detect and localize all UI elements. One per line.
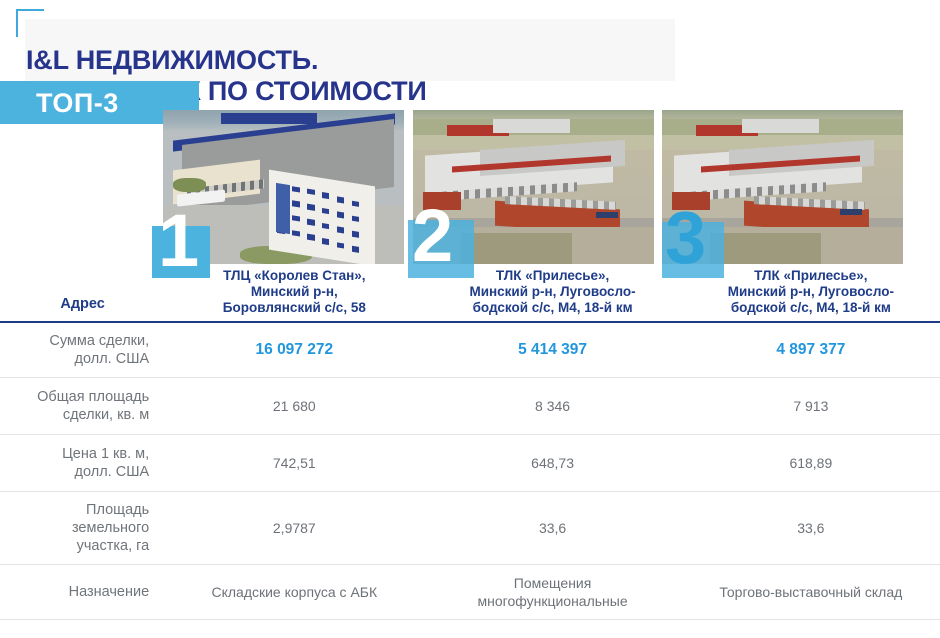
cell-price-per-sqm-2: 648,73 [423,435,681,492]
row-label-purpose: Назначение [0,565,165,620]
cell-deal-amount-2: 5 414 397 [423,322,681,378]
photo-2-gravel-yard [461,233,572,264]
cell-total-area-3: 7 913 [682,378,940,435]
cell-total-area-1: 21 680 [165,378,423,435]
cell-land-area-3: 33,6 [682,492,940,565]
cell-seller-1: ООО "БелПартАльянс" [165,620,423,638]
cell-purpose-3: Торгово-выставочный склад [682,565,940,620]
table-row: Продавец ООО "БелПартАльянс" ООО "Прилес… [0,620,940,638]
table-header-row: Адрес ТЛЦ «Королев Стан», Минский р-н, Б… [0,268,940,322]
top-deals-table: Адрес ТЛЦ «Королев Стан», Минский р-н, Б… [0,268,940,638]
table-row: Цена 1 кв. м, долл. США 742,51 648,73 61… [0,435,940,492]
table-row: Общая площадь сделки, кв. м 21 680 8 346… [0,378,940,435]
table-header-address: Адрес [0,268,165,322]
photo-3-gravel-yard [710,233,821,264]
table-header-col-2: ТЛК «Прилесье», Минский р-н, Луговосло- … [423,268,681,322]
cell-total-area-2: 8 346 [423,378,681,435]
slide-canvas: I&L НЕДВИЖИМОСТЬ. ТОП СДЕЛОК ПО СТОИМОСТ… [0,0,940,638]
top3-badge-label: ТОП-3 [36,88,119,119]
row-label-total-area: Общая площадь сделки, кв. м [0,378,165,435]
cell-land-area-2: 33,6 [423,492,681,565]
cell-price-per-sqm-3: 618,89 [682,435,940,492]
table-header-col-3: ТЛК «Прилесье», Минский р-н, Луговосло- … [682,268,940,322]
row-label-land-area: Площадь земельного участка, га [0,492,165,565]
rank-badge-1-numeral: 1 [158,213,199,269]
rank-badge-2-numeral: 2 [412,208,453,264]
photo-1-glass-facade [276,183,290,235]
table-row: Сумма сделки, долл. США 16 097 272 5 414… [0,322,940,378]
cell-price-per-sqm-1: 742,51 [165,435,423,492]
table-row: Назначение Складские корпуса с АБК Помещ… [0,565,940,620]
cell-deal-amount-3: 4 897 377 [682,322,940,378]
photo-3-truck [840,209,862,215]
row-label-seller: Продавец [0,620,165,638]
rank-badge-3-numeral: 3 [665,210,706,266]
table-row: Площадь земельного участка, га 2,9787 33… [0,492,940,565]
row-label-deal-amount: Сумма сделки, долл. США [0,322,165,378]
cell-seller-2: ООО "Прилесье-логистик" [423,620,681,638]
cell-deal-amount-1: 16 097 272 [165,322,423,378]
cell-purpose-1: Складские корпуса с АБК [165,565,423,620]
photo-2-truck [596,212,618,218]
page-title-line1: I&L НЕДВИЖИМОСТЬ. [26,45,318,75]
row-label-price-per-sqm: Цена 1 кв. м, долл. США [0,435,165,492]
table-header-col-1: ТЛЦ «Королев Стан», Минский р-н, Боровля… [165,268,423,322]
photo-2-grey-roof-far [493,119,570,133]
photo-3-grey-roof-far [742,119,819,133]
photo-1-lawn [173,178,207,192]
cell-purpose-2: Помещения многофункциональные [423,565,681,620]
photo-1-blue-band [221,113,317,124]
cell-seller-3: ООО "Прилесье-логистик" [682,620,940,638]
cell-land-area-1: 2,9787 [165,492,423,565]
